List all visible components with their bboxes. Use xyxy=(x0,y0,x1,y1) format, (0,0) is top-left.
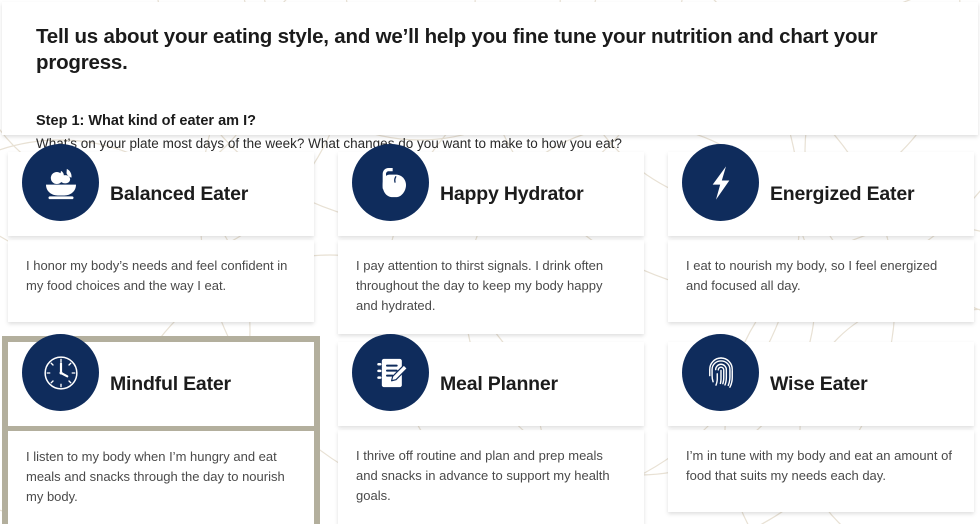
notepad-pencil-icon xyxy=(352,334,429,411)
card-description: I honor my body’s needs and feel confide… xyxy=(26,256,296,296)
lightning-bolt-icon xyxy=(682,144,759,221)
card-body: I honor my body’s needs and feel confide… xyxy=(8,240,314,322)
eater-card-balanced-eater[interactable]: Balanced Eater I honor my body’s needs a… xyxy=(2,146,320,328)
eater-type-card-grid: Balanced Eater I honor my body’s needs a… xyxy=(0,146,980,524)
card-description: I listen to my body when I’m hungry and … xyxy=(26,447,296,507)
card-title: Happy Hydrator xyxy=(440,183,583,206)
card-slot: Meal Planner I thrive off routine and pl… xyxy=(332,336,650,524)
card-header: Happy Hydrator xyxy=(338,152,644,236)
card-slot: Energized Eater I eat to nourish my body… xyxy=(662,146,980,328)
card-description: I thrive off routine and plan and prep m… xyxy=(356,446,626,506)
card-body: I eat to nourish my body, so I feel ener… xyxy=(668,240,974,322)
card-body: I thrive off routine and plan and prep m… xyxy=(338,430,644,524)
card-slot: Happy Hydrator I pay attention to thirst… xyxy=(332,146,650,340)
card-header: Balanced Eater xyxy=(8,152,314,236)
eater-card-wise-eater[interactable]: Wise Eater I’m in tune with my body and … xyxy=(662,336,980,518)
card-slot: Mindful Eater I listen to my body when I… xyxy=(2,336,320,524)
eater-card-happy-hydrator[interactable]: Happy Hydrator I pay attention to thirst… xyxy=(332,146,650,340)
card-description: I pay attention to thirst signals. I dri… xyxy=(356,256,626,316)
card-row-1: Balanced Eater I honor my body’s needs a… xyxy=(0,146,980,336)
card-title: Meal Planner xyxy=(440,373,558,396)
card-body: I’m in tune with my body and eat an amou… xyxy=(668,430,974,512)
card-slot: Balanced Eater I honor my body’s needs a… xyxy=(2,146,320,328)
card-title: Wise Eater xyxy=(770,373,868,396)
card-description: I eat to nourish my body, so I feel ener… xyxy=(686,256,956,296)
fingerprint-icon xyxy=(682,334,759,411)
page-headline: Tell us about your eating style, and we’… xyxy=(36,24,944,75)
card-body: I listen to my body when I’m hungry and … xyxy=(8,431,314,524)
card-body: I pay attention to thirst signals. I dri… xyxy=(338,240,644,334)
card-header: Meal Planner xyxy=(338,342,644,426)
eater-card-meal-planner[interactable]: Meal Planner I thrive off routine and pl… xyxy=(332,336,650,524)
salad-bowl-icon xyxy=(22,144,99,221)
clock-icon xyxy=(22,334,99,411)
step-title: Step 1: What kind of eater am I? xyxy=(36,111,944,131)
card-description: I’m in tune with my body and eat an amou… xyxy=(686,446,956,486)
eater-card-energized-eater[interactable]: Energized Eater I eat to nourish my body… xyxy=(662,146,980,328)
card-row-2: Mindful Eater I listen to my body when I… xyxy=(0,336,980,524)
eating-style-selection-page: Tell us about your eating style, and we’… xyxy=(0,0,980,524)
header-panel: Tell us about your eating style, and we’… xyxy=(2,2,978,135)
card-title: Energized Eater xyxy=(770,183,914,206)
card-slot: Wise Eater I’m in tune with my body and … xyxy=(662,336,980,518)
water-pitcher-icon xyxy=(352,144,429,221)
eater-card-mindful-eater[interactable]: Mindful Eater I listen to my body when I… xyxy=(2,336,320,524)
card-title: Balanced Eater xyxy=(110,183,248,206)
card-header: Mindful Eater xyxy=(8,342,314,426)
card-title: Mindful Eater xyxy=(110,373,231,396)
card-header: Energized Eater xyxy=(668,152,974,236)
card-header: Wise Eater xyxy=(668,342,974,426)
